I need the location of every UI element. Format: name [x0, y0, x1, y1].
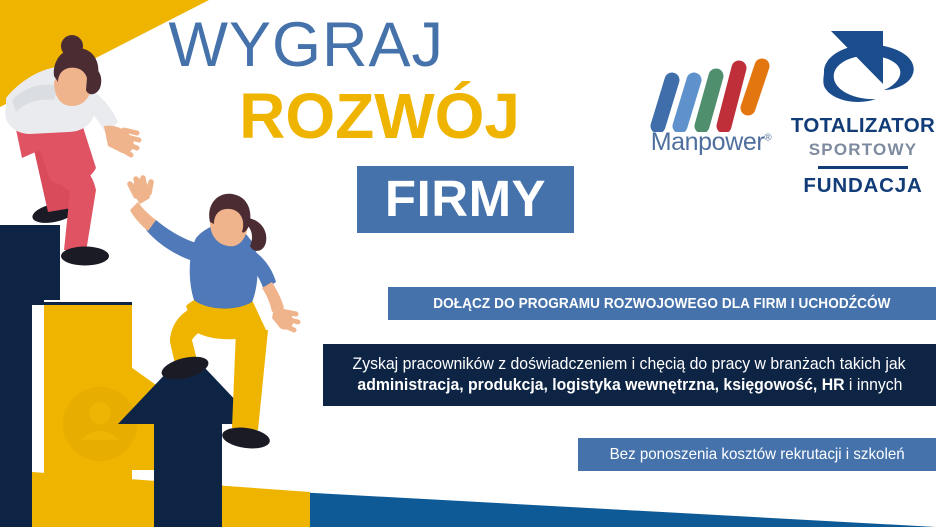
manpower-wordmark-text: Manpower: [651, 128, 765, 156]
banner-join-program: DOŁĄCZ DO PROGRAMU ROZWOJOWEGO DLA FIRM …: [388, 287, 936, 320]
totalizator-line-3: FUNDACJA: [790, 174, 936, 198]
headline-line-3: FIRMY: [357, 166, 574, 233]
totalizator-logo: TOTALIZATOR SPORTOWY FUNDACJA: [790, 16, 936, 206]
totalizator-mark-icon: [790, 16, 936, 112]
headline-line-3-box: FIRMY: [357, 166, 574, 233]
logo-group: Manpower® TOTALIZATOR SPORTOWY FUNDACJA: [620, 14, 936, 204]
banner-no-costs: Bez ponoszenia kosztów rekrutacji i szko…: [578, 438, 936, 471]
banner-benefits-tail: i innych: [844, 376, 902, 394]
totalizator-line-1: TOTALIZATOR: [790, 114, 936, 138]
banner-benefits: Zyskaj pracowników z doświadczeniem i ch…: [323, 344, 936, 406]
banner-join-program-text: DOŁĄCZ DO PROGRAMU ROZWOJOWEGO DLA FIRM …: [433, 296, 890, 312]
poster-canvas: WYGRAJ ROZWÓJ FIRMY Manpower®: [0, 0, 936, 527]
yellow-column-bottom: [44, 470, 132, 527]
banner-benefits-sectors: administracja, produkcja, logistyka wewn…: [357, 376, 844, 394]
shoe-front-upper: [61, 247, 109, 266]
banner-benefits-line-2: administracja, produkcja, logistyka wewn…: [357, 375, 902, 397]
totalizator-line-2: SPORTOWY: [790, 140, 936, 160]
manpower-wordmark: Manpower®: [646, 128, 776, 157]
manpower-logo: Manpower®: [638, 54, 778, 164]
manpower-registered-mark: ®: [764, 133, 771, 144]
headline-line-2: ROZWÓJ: [0, 84, 520, 148]
white-step-upper: [44, 300, 132, 302]
navy-arrow-stem-bottom: [154, 470, 222, 527]
banner-no-costs-text: Bez ponoszenia kosztów rekrutacji i szko…: [609, 446, 904, 464]
headline-line-1: WYGRAJ: [0, 14, 444, 77]
navy-band-left-bottom: [0, 225, 32, 527]
banner-benefits-line-1: Zyskaj pracowników z doświadczeniem i ch…: [353, 354, 906, 376]
totalizator-divider: [818, 166, 908, 169]
manpower-mark-icon: [638, 54, 778, 132]
